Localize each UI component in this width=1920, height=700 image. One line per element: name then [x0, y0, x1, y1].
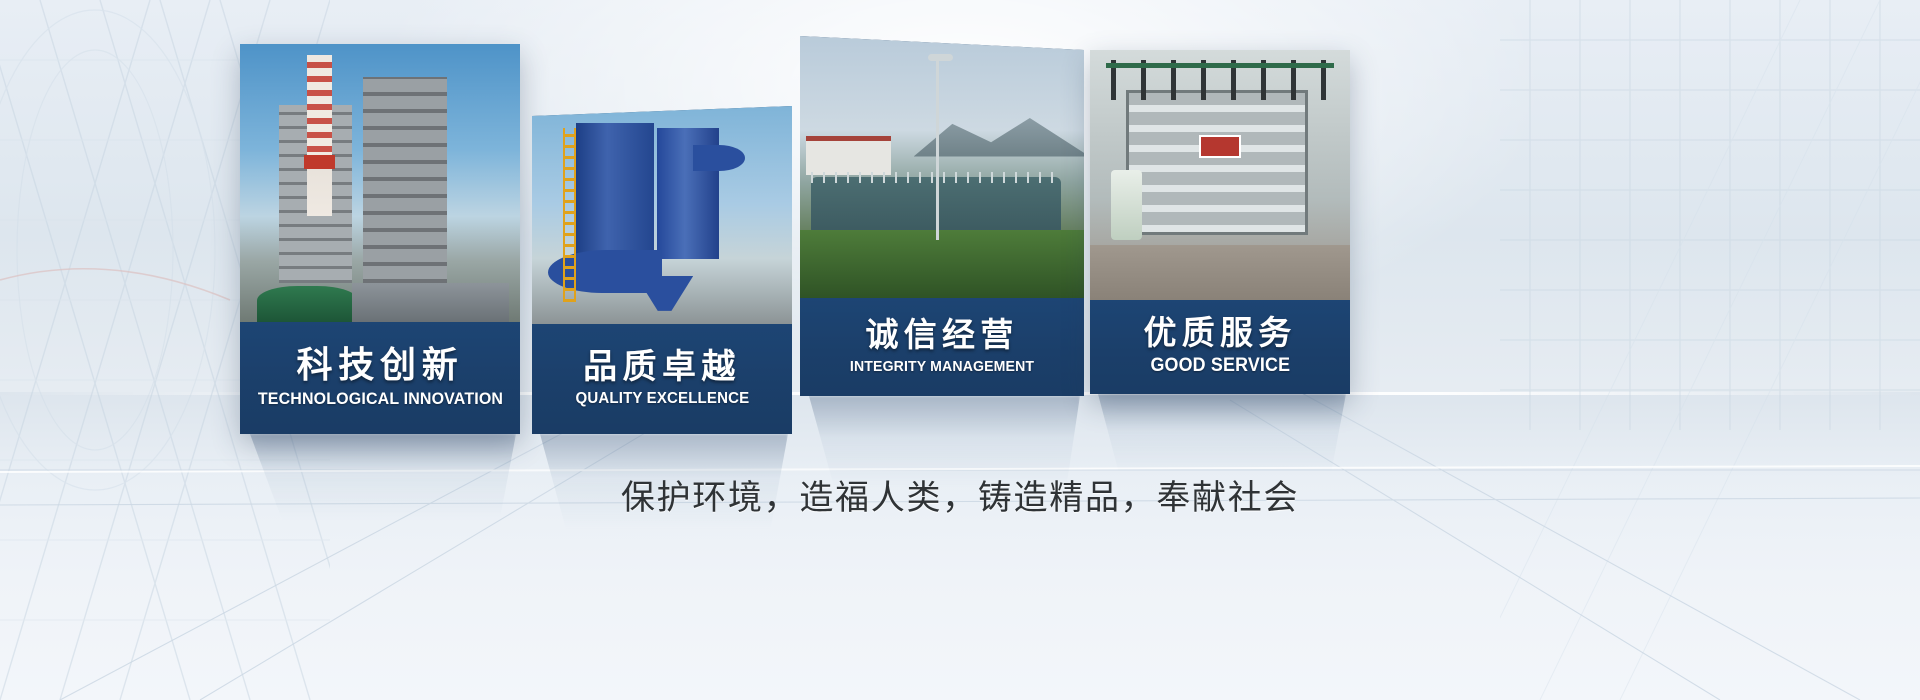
card-title-en: QUALITY EXCELLENCE — [575, 390, 749, 408]
card-photo-quality-excellence — [532, 106, 792, 324]
card-caption-good-service: 优质服务 GOOD SERVICE — [1090, 300, 1350, 394]
card-caption-technological-innovation: 科技创新 TECHNOLOGICAL INNOVATION — [240, 322, 520, 434]
card-caption-integrity-management: 诚信经营 INTEGRITY MANAGEMENT — [800, 298, 1084, 396]
card-photo-integrity-management — [800, 36, 1084, 298]
feature-card-row: 科技创新 TECHNOLOGICAL INNOVATION 品质卓越 QUALI… — [0, 0, 1920, 700]
feature-card-integrity-management[interactable]: 诚信经营 INTEGRITY MANAGEMENT — [800, 36, 1084, 396]
card-photo-technological-innovation — [240, 44, 520, 322]
card-title-cn: 品质卓越 — [583, 348, 741, 386]
card-photo-good-service — [1090, 50, 1350, 300]
card-caption-quality-excellence: 品质卓越 QUALITY EXCELLENCE — [532, 324, 792, 434]
feature-card-quality-excellence[interactable]: 品质卓越 QUALITY EXCELLENCE — [532, 106, 792, 434]
card-title-en: INTEGRITY MANAGEMENT — [850, 358, 1034, 375]
card-title-en: TECHNOLOGICAL INNOVATION — [257, 389, 502, 409]
feature-card-technological-innovation[interactable]: 科技创新 TECHNOLOGICAL INNOVATION — [240, 44, 520, 434]
card-title-cn: 科技创新 — [296, 345, 463, 385]
feature-card-good-service[interactable]: 优质服务 GOOD SERVICE — [1090, 50, 1350, 394]
card-reflection-4 — [1094, 394, 1346, 474]
banner-stage: 科技创新 TECHNOLOGICAL INNOVATION 品质卓越 QUALI… — [0, 0, 1920, 700]
card-title-cn: 诚信经营 — [865, 317, 1018, 354]
card-title-en: GOOD SERVICE — [1150, 355, 1290, 377]
card-title-cn: 优质服务 — [1143, 315, 1296, 352]
banner-tagline: 保护环境，造福人类，铸造精品，奉献社会 — [0, 470, 1920, 519]
